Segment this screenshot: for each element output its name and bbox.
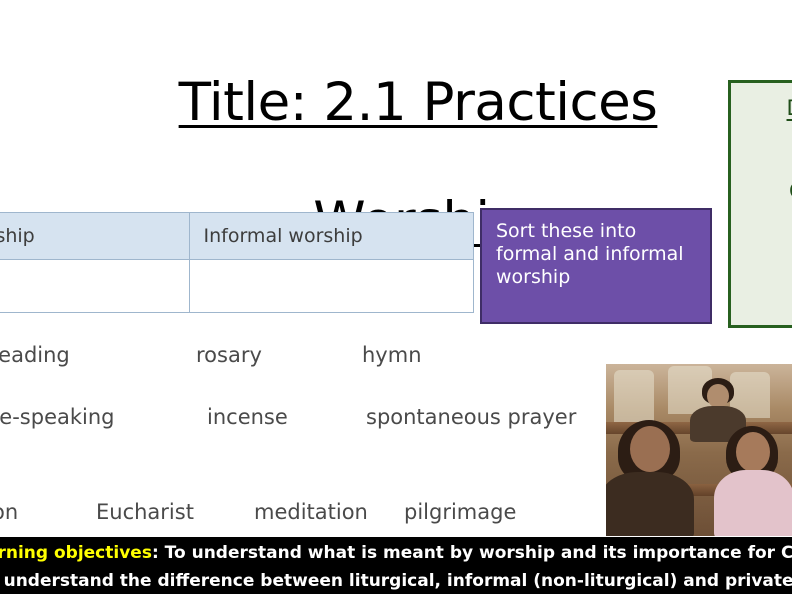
column-header-informal: Informal worship: [189, 213, 474, 260]
discussion-box-line-1: d: [731, 139, 792, 169]
word-bank-item[interactable]: on: [0, 500, 18, 524]
word-bank-item[interactable]: incense: [207, 405, 288, 429]
discussion-box-line-3: d: [731, 212, 792, 242]
word-bank-item[interactable]: rosary: [196, 343, 262, 367]
table-header-row: mal worship Informal worship: [0, 213, 474, 260]
person-body: [714, 470, 792, 536]
word-bank-item[interactable]: hymn: [362, 343, 422, 367]
word-bank-item[interactable]: ue-speaking: [0, 405, 115, 429]
word-bank-item[interactable]: meditation: [254, 500, 368, 524]
instruction-box: Sort these into formal and informal wors…: [480, 208, 712, 324]
table-row[interactable]: [0, 260, 474, 313]
church-window: [614, 370, 654, 422]
column-header-formal: mal worship: [0, 213, 189, 260]
person-head: [707, 384, 729, 408]
word-bank-item[interactable]: reading: [0, 343, 70, 367]
discussion-box-title: Dis: [731, 93, 792, 123]
discussion-box-line-2: Ch: [731, 176, 792, 206]
cell-formal-empty[interactable]: [0, 260, 189, 313]
worship-sorting-table: mal worship Informal worship: [0, 212, 474, 313]
learning-objectives-label: arning objectives: [0, 543, 152, 563]
learning-objectives-line-1: arning objectives: To understand what is…: [0, 540, 792, 568]
discussion-box: Dis d Ch d: [728, 80, 792, 328]
cell-informal-empty[interactable]: [189, 260, 474, 313]
person-body: [606, 472, 694, 536]
word-bank-item[interactable]: Eucharist: [96, 500, 194, 524]
instruction-text: Sort these into formal and informal wors…: [496, 220, 684, 288]
title-line-1: Title: 2.1 Practices: [108, 73, 728, 132]
learning-objectives-line-1-rest: : To understand what is meant by worship…: [152, 543, 792, 563]
learning-objectives-banner: arning objectives: To understand what is…: [0, 537, 792, 594]
word-bank-item[interactable]: pilgrimage: [404, 500, 516, 524]
learning-objectives-line-2: o understand the difference between litu…: [0, 568, 792, 594]
title-line-1-text: Title: 2.1 Practices: [179, 72, 658, 133]
church-prayer-photo: [606, 364, 792, 536]
word-bank-item[interactable]: spontaneous prayer: [366, 405, 576, 429]
person-head: [736, 432, 770, 472]
person-head: [630, 426, 670, 472]
